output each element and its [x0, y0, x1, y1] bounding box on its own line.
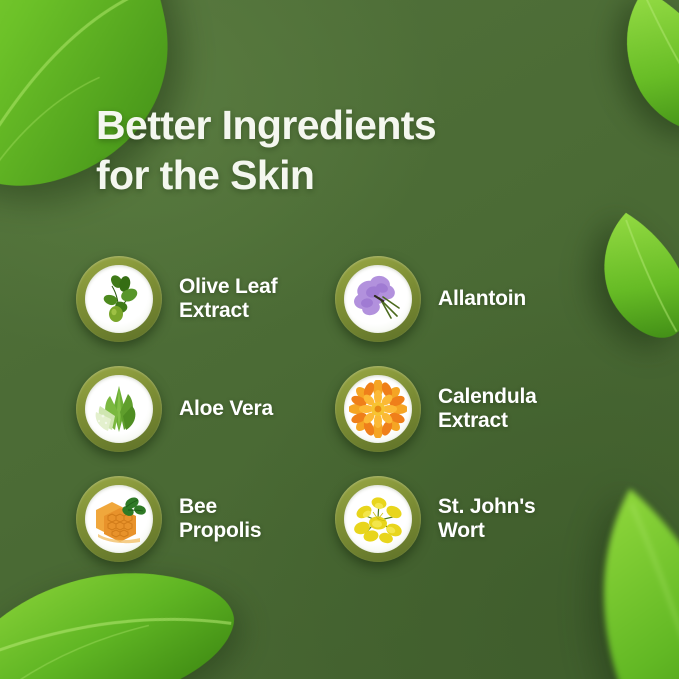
ingredient-badge	[76, 366, 162, 452]
ingredient-badge	[76, 256, 162, 342]
ingredient-label: Allantoin	[438, 287, 526, 311]
olive-leaf-icon	[90, 270, 148, 328]
ingredient-badge	[335, 366, 421, 452]
ingredient-item-st-johns-wort: St. John's Wort	[335, 464, 594, 574]
ingredient-item-allantoin: Allantoin	[335, 244, 594, 354]
ingredient-badge	[335, 256, 421, 342]
ingredient-item-bee-propolis: Bee Propolis	[76, 464, 335, 574]
leaf-top-right-icon	[584, 0, 679, 152]
ingredient-item-aloe-vera: Aloe Vera	[76, 354, 335, 464]
ingredient-label: Aloe Vera	[179, 397, 273, 421]
ingredient-label: Bee Propolis	[179, 495, 261, 543]
ingredients-poster: Better Ingredients for the Skin	[0, 0, 679, 679]
ingredient-item-calendula-extract: Calendula Extract	[335, 354, 594, 464]
page-title: Better Ingredients for the Skin	[96, 100, 566, 200]
ingredient-badge	[335, 476, 421, 562]
honeycomb-icon	[90, 490, 148, 548]
ingredient-badge	[76, 476, 162, 562]
ingredient-label: St. John's Wort	[438, 495, 536, 543]
ingredient-item-olive-leaf-extract: Olive Leaf Extract	[76, 244, 335, 354]
comfrey-flower-icon	[349, 270, 407, 328]
ingredient-label: Calendula Extract	[438, 385, 537, 433]
ingredient-grid: Olive Leaf Extract	[76, 244, 616, 574]
ingredient-label: Olive Leaf Extract	[179, 275, 277, 323]
marigold-flower-icon	[349, 380, 407, 438]
aloe-vera-icon	[90, 380, 148, 438]
yellow-flower-icon	[349, 490, 407, 548]
